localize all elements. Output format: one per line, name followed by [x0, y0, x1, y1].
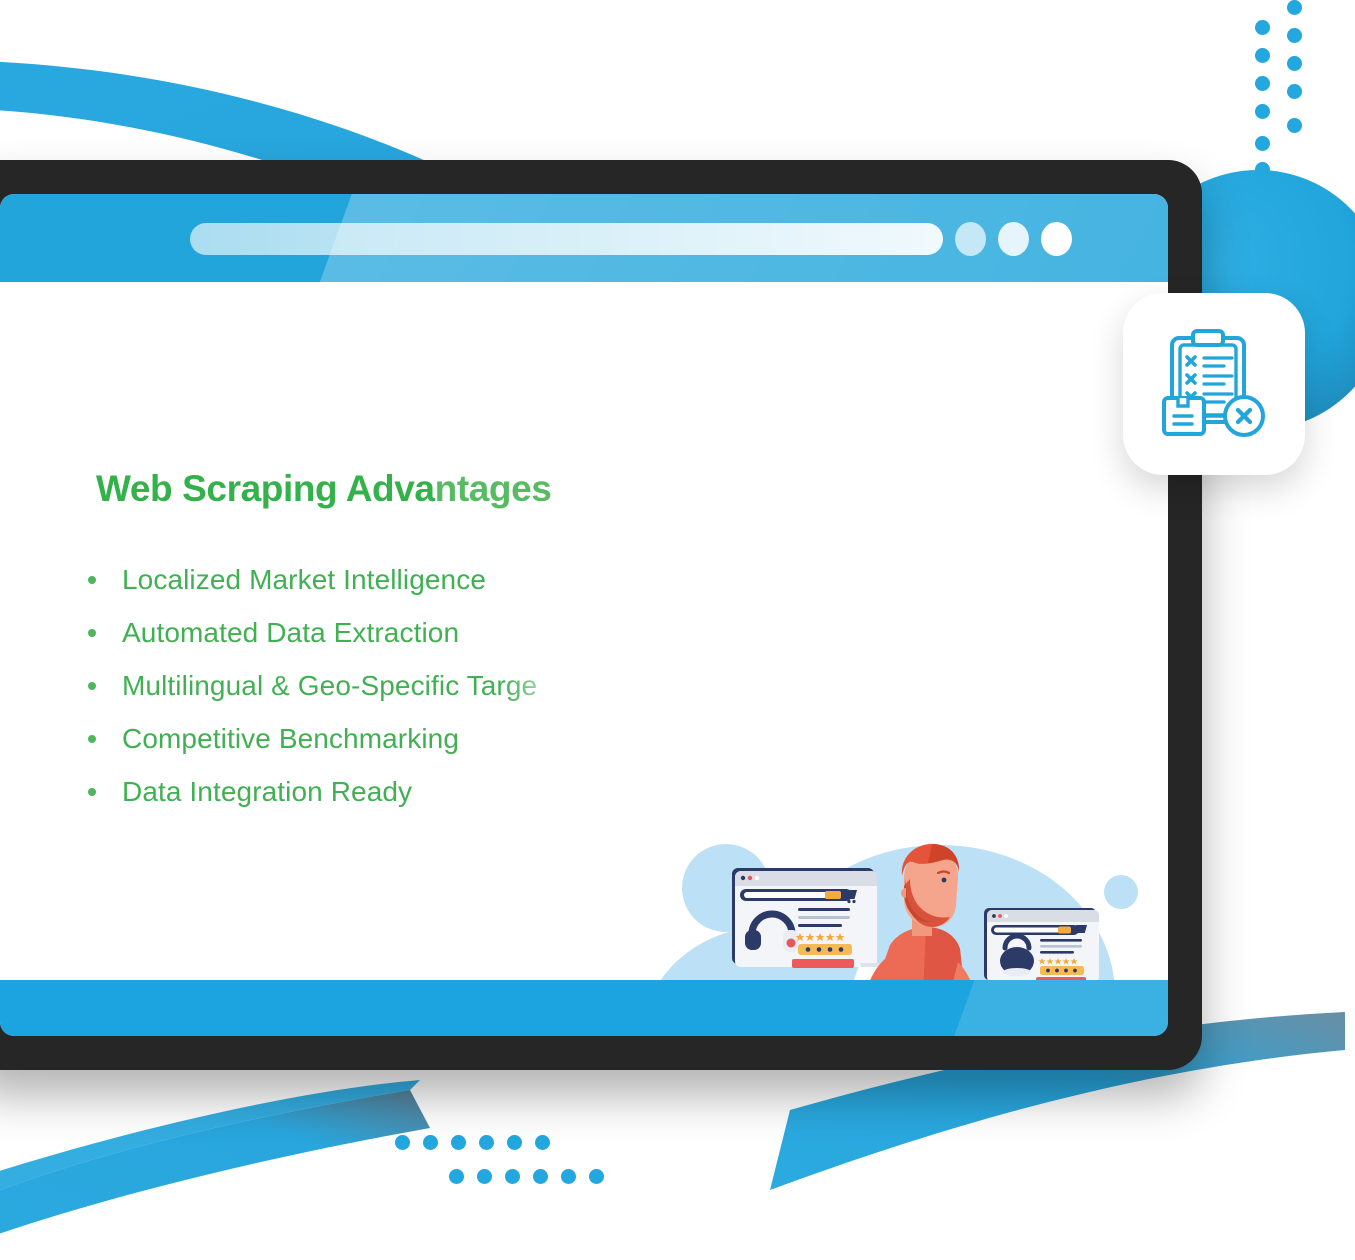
bullet-dot-icon: [88, 629, 96, 637]
browser-window: Web Scraping Advantages Localized Market…: [0, 194, 1168, 1036]
advantages-list: Localized Market Intelligence Automated …: [88, 564, 537, 829]
bottom-center-dot-grid: [395, 1135, 605, 1195]
bottom-left-arc-2: [0, 1080, 420, 1215]
grid-dot: [395, 1135, 410, 1150]
page-title-solid: Web Scraping Adva: [96, 468, 435, 509]
grid-dot: [1287, 56, 1302, 71]
list-item-label: Competitive Benchmarking: [122, 723, 459, 755]
grid-dot: [1287, 28, 1302, 43]
minimize-dot-icon[interactable]: [955, 222, 986, 256]
bottom-bar-gloss: [935, 980, 1168, 1036]
browser-toolbar: [0, 194, 1168, 282]
list-item: Multilingual & Geo-Specific Targe: [88, 670, 537, 723]
maximize-dot-icon[interactable]: [998, 222, 1029, 256]
list-item-label: Localized Market Intelligence: [122, 564, 486, 596]
grid-dot: [535, 1135, 550, 1150]
grid-dot: [451, 1135, 466, 1150]
grid-dot: [423, 1135, 438, 1150]
list-item: Localized Market Intelligence: [88, 564, 537, 617]
grid-dot: [589, 1169, 604, 1184]
list-item: Competitive Benchmarking: [88, 723, 537, 776]
grid-dot: [1287, 84, 1302, 99]
window-controls[interactable]: [955, 222, 1072, 256]
bullet-dot-icon: [88, 576, 96, 584]
top-right-dot-grid: [1255, 0, 1355, 165]
grid-dot: [1255, 76, 1270, 91]
grid-dot: [479, 1135, 494, 1150]
kettlebell-product-card: [984, 908, 1099, 984]
grid-dot: [1255, 136, 1270, 151]
address-bar-input[interactable]: [190, 223, 943, 255]
bullet-dot-icon: [88, 788, 96, 796]
list-item-label: Data Integration Ready: [122, 776, 412, 808]
grid-dot: [1287, 0, 1302, 15]
device-frame: Web Scraping Advantages Localized Market…: [0, 160, 1202, 1070]
close-dot-icon[interactable]: [1041, 222, 1072, 256]
clipboard-checklist-package-error-icon: [1160, 328, 1268, 440]
grid-dot: [449, 1169, 464, 1184]
list-item-label: Automated Data Extraction: [122, 617, 459, 649]
bottom-left-arc: [0, 1090, 430, 1255]
grid-dot: [507, 1135, 522, 1150]
page-title-fade: ntages: [435, 468, 552, 509]
grid-dot: [533, 1169, 548, 1184]
grid-dot: [1287, 118, 1302, 133]
grid-dot: [1255, 48, 1270, 63]
grid-dot: [477, 1169, 492, 1184]
list-item-label: Multilingual & Geo-Specific Targe: [122, 670, 537, 702]
bullet-dot-icon: [88, 735, 96, 743]
list-item: Automated Data Extraction: [88, 617, 537, 670]
grid-dot: [1255, 104, 1270, 119]
list-item: Data Integration Ready: [88, 776, 537, 829]
bullet-dot-icon: [88, 682, 96, 690]
page-content: Web Scraping Advantages Localized Market…: [0, 282, 1168, 980]
grid-dot: [561, 1169, 576, 1184]
clipboard-badge[interactable]: [1123, 293, 1305, 475]
grid-dot: [1255, 162, 1270, 177]
grid-dot: [505, 1169, 520, 1184]
headphones-product-card: [732, 868, 877, 968]
slide-canvas: Web Scraping Advantages Localized Market…: [0, 0, 1355, 1260]
grid-dot: [1255, 20, 1270, 35]
browser-bottom-bar: [0, 980, 1168, 1036]
page-title: Web Scraping Advantages: [96, 468, 551, 510]
